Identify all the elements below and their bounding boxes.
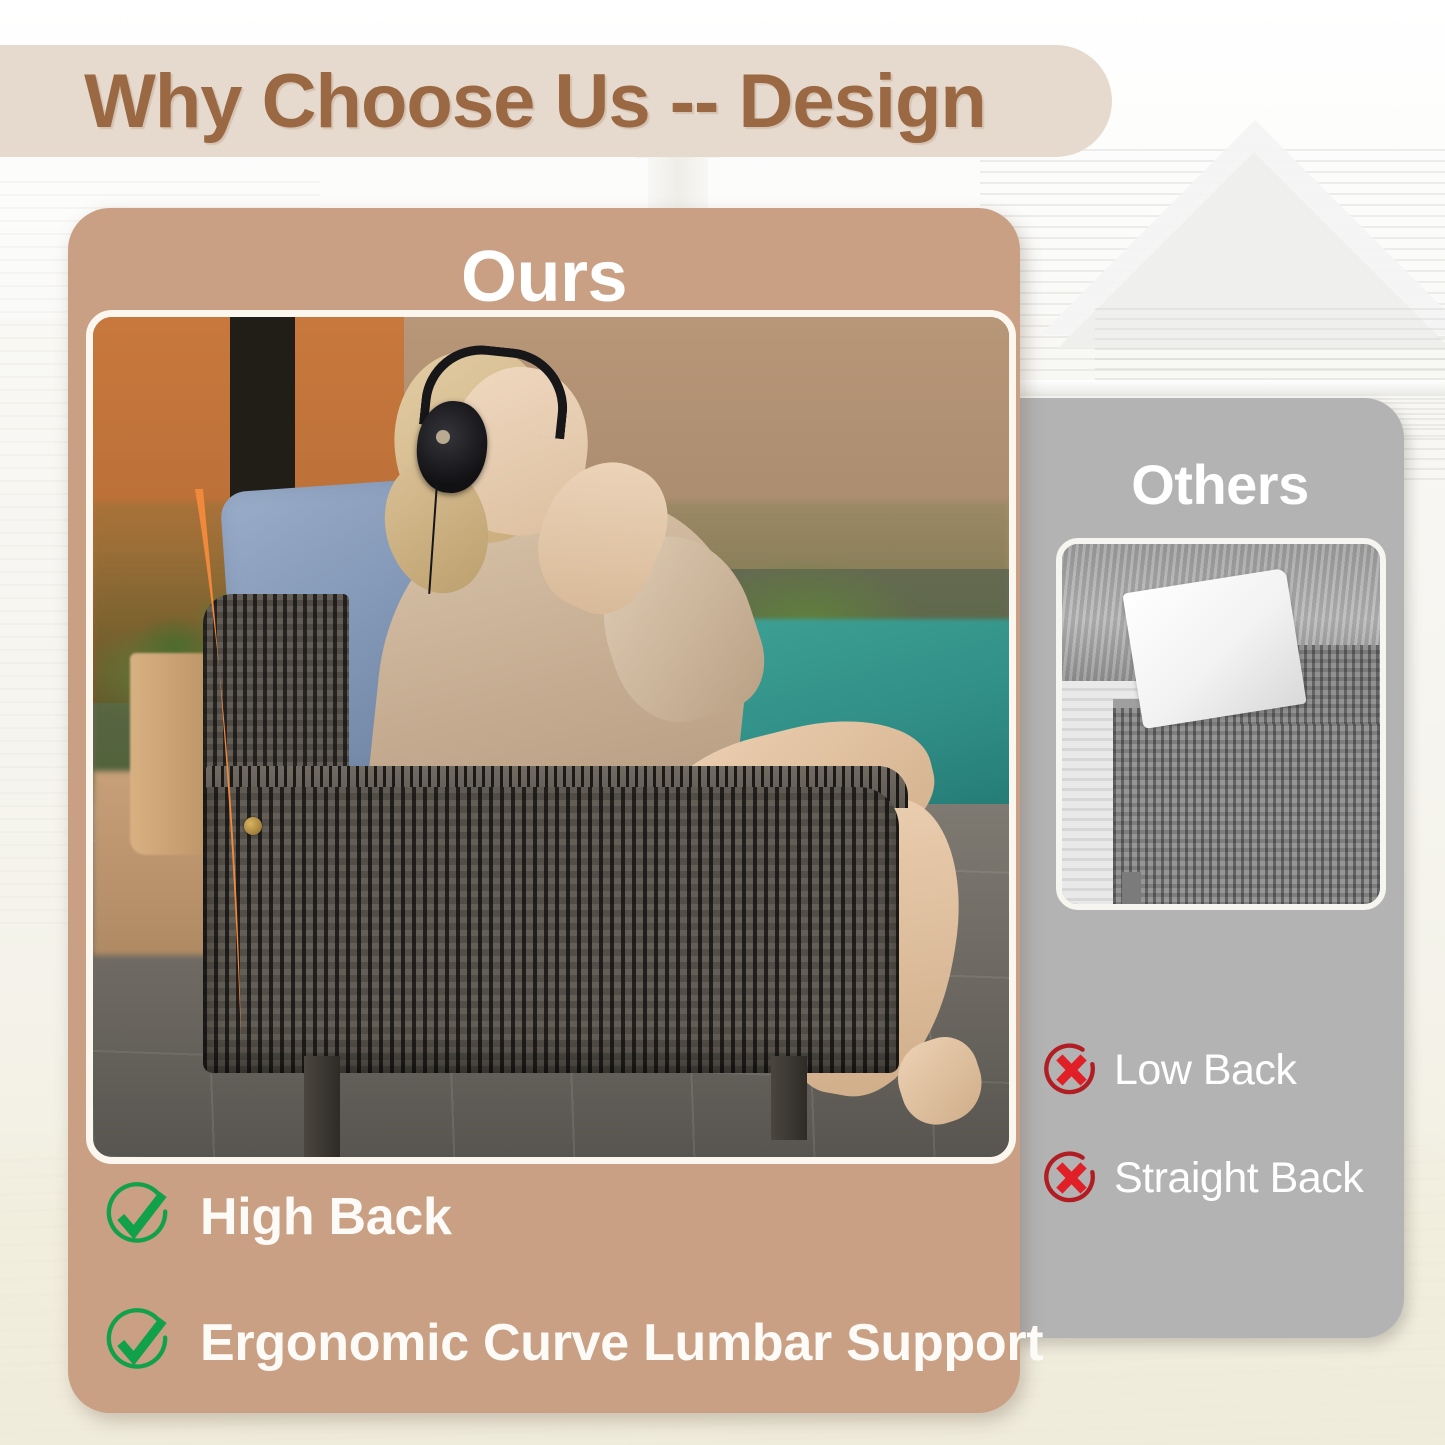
green-check-circle-icon bbox=[98, 1304, 176, 1382]
others-feature-label: Low Back bbox=[1114, 1046, 1296, 1095]
others-feature-label: Straight Back bbox=[1114, 1154, 1363, 1203]
others-feature-list: Low Back Straight Back bbox=[1040, 1038, 1400, 1254]
others-photo-sofa-leg bbox=[1122, 872, 1141, 904]
others-product-photo bbox=[1056, 538, 1386, 910]
ours-feature-label: Ergonomic Curve Lumbar Support bbox=[200, 1313, 1043, 1373]
red-cross-circle-icon bbox=[1040, 1147, 1102, 1209]
ours-feature-list: High Back Ergonomic Curve Lumbar Support bbox=[98, 1178, 998, 1430]
others-photo-sofa-body bbox=[1113, 699, 1386, 910]
red-cross-circle-icon bbox=[1040, 1039, 1102, 1101]
photo-chair-seat-frame bbox=[203, 787, 899, 1073]
page-title: Why Choose Us -- Design bbox=[84, 58, 986, 145]
green-check-circle-icon bbox=[98, 1178, 176, 1256]
ours-title: Ours bbox=[68, 236, 1020, 318]
photo-chair-leg-right bbox=[771, 1056, 808, 1140]
ours-feature-label: High Back bbox=[200, 1187, 452, 1247]
photo-headphone-logo bbox=[436, 430, 450, 444]
ours-feature-row: Ergonomic Curve Lumbar Support bbox=[98, 1304, 998, 1382]
ours-panel: Ours bbox=[68, 208, 1020, 1413]
photo-chair-screw bbox=[244, 817, 262, 835]
others-feature-row: Straight Back bbox=[1040, 1146, 1400, 1210]
others-photo-cushion bbox=[1122, 568, 1307, 729]
title-banner: Why Choose Us -- Design bbox=[0, 45, 1112, 157]
ours-product-photo bbox=[86, 310, 1016, 1164]
others-title: Others bbox=[1012, 452, 1404, 517]
photo-chair-leg-left bbox=[304, 1056, 341, 1157]
ours-feature-row: High Back bbox=[98, 1178, 998, 1256]
others-panel: Others Low Back bbox=[1012, 398, 1404, 1338]
others-feature-row: Low Back bbox=[1040, 1038, 1400, 1102]
background-eave bbox=[1000, 380, 1445, 396]
infographic-canvas: Others Low Back bbox=[0, 0, 1445, 1445]
